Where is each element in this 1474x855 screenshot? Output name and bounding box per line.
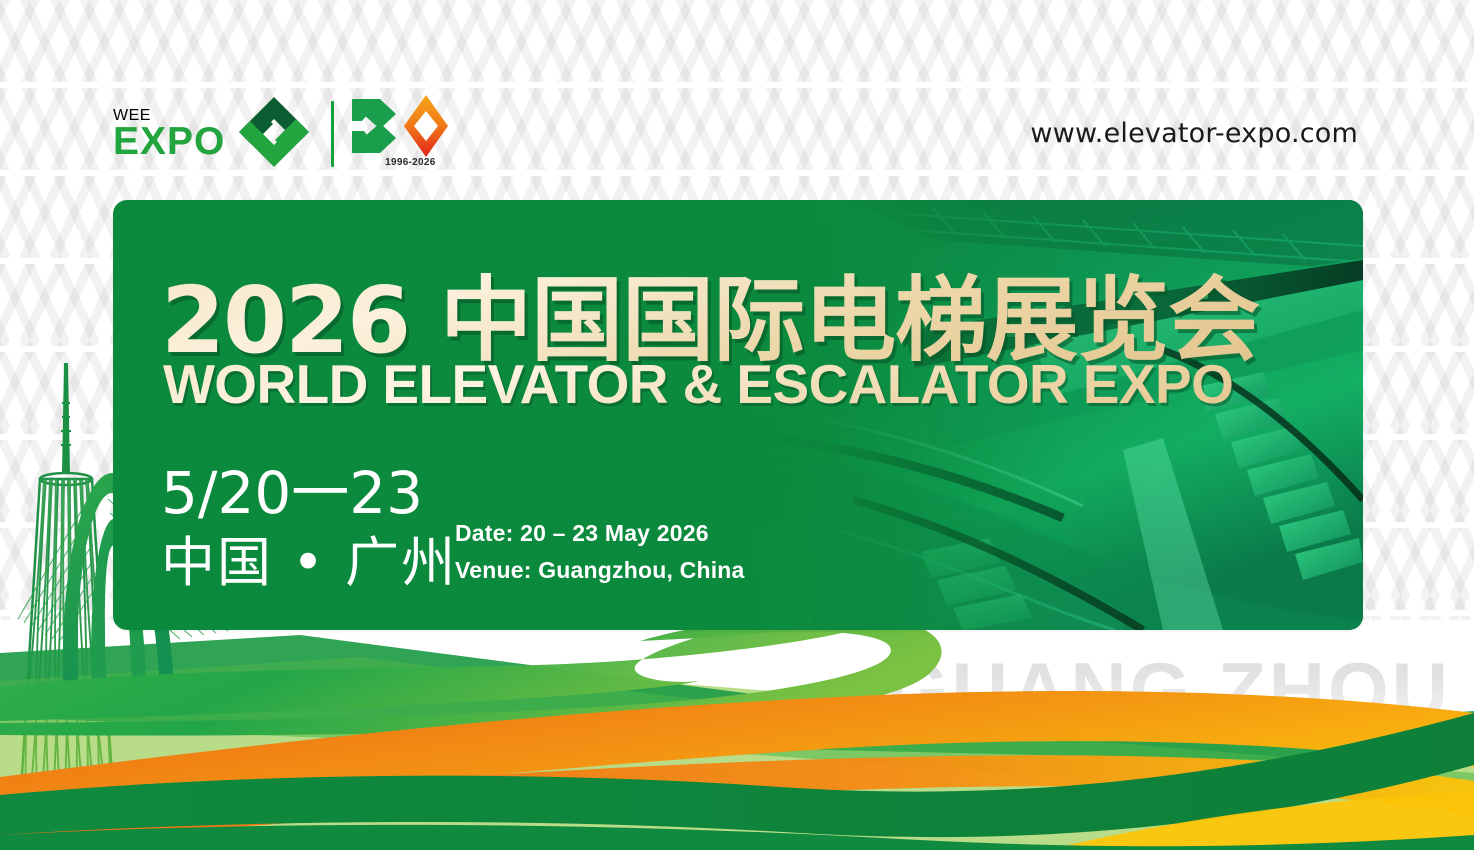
wee-expo-wordmark: WEE EXPO xyxy=(113,108,225,161)
wee-expo-logo[interactable]: WEE EXPO xyxy=(113,92,448,176)
banner-city-cn: 中国 • 广州 xyxy=(161,518,457,597)
banner-venue-line: Venue: Guangzhou, China xyxy=(455,552,745,589)
anniversary-30-icon: 1996-2026 xyxy=(350,95,448,173)
event-banner: 2026 中国国际电梯展览会 WORLD ELEVATOR & ESCALATO… xyxy=(113,200,1363,630)
banner-title-en: WORLD ELEVATOR & ESCALATOR EXPO xyxy=(163,352,1233,416)
page-header: WEE EXPO xyxy=(0,0,1474,200)
website-url[interactable]: www.elevator-expo.com xyxy=(1030,118,1358,149)
vertical-divider-icon xyxy=(331,101,334,167)
double-chevron-diamond-icon xyxy=(235,93,313,176)
banner-content: 2026 中国国际电梯展览会 WORLD ELEVATOR & ESCALATO… xyxy=(113,200,1363,630)
banner-date-line: Date: 20 – 23 May 2026 xyxy=(455,515,745,552)
banner-meta: Date: 20 – 23 May 2026 Venue: Guangzhou,… xyxy=(455,515,745,590)
anniversary-years-label: 1996-2026 xyxy=(372,157,448,168)
logo-line-expo: EXPO xyxy=(113,123,225,160)
